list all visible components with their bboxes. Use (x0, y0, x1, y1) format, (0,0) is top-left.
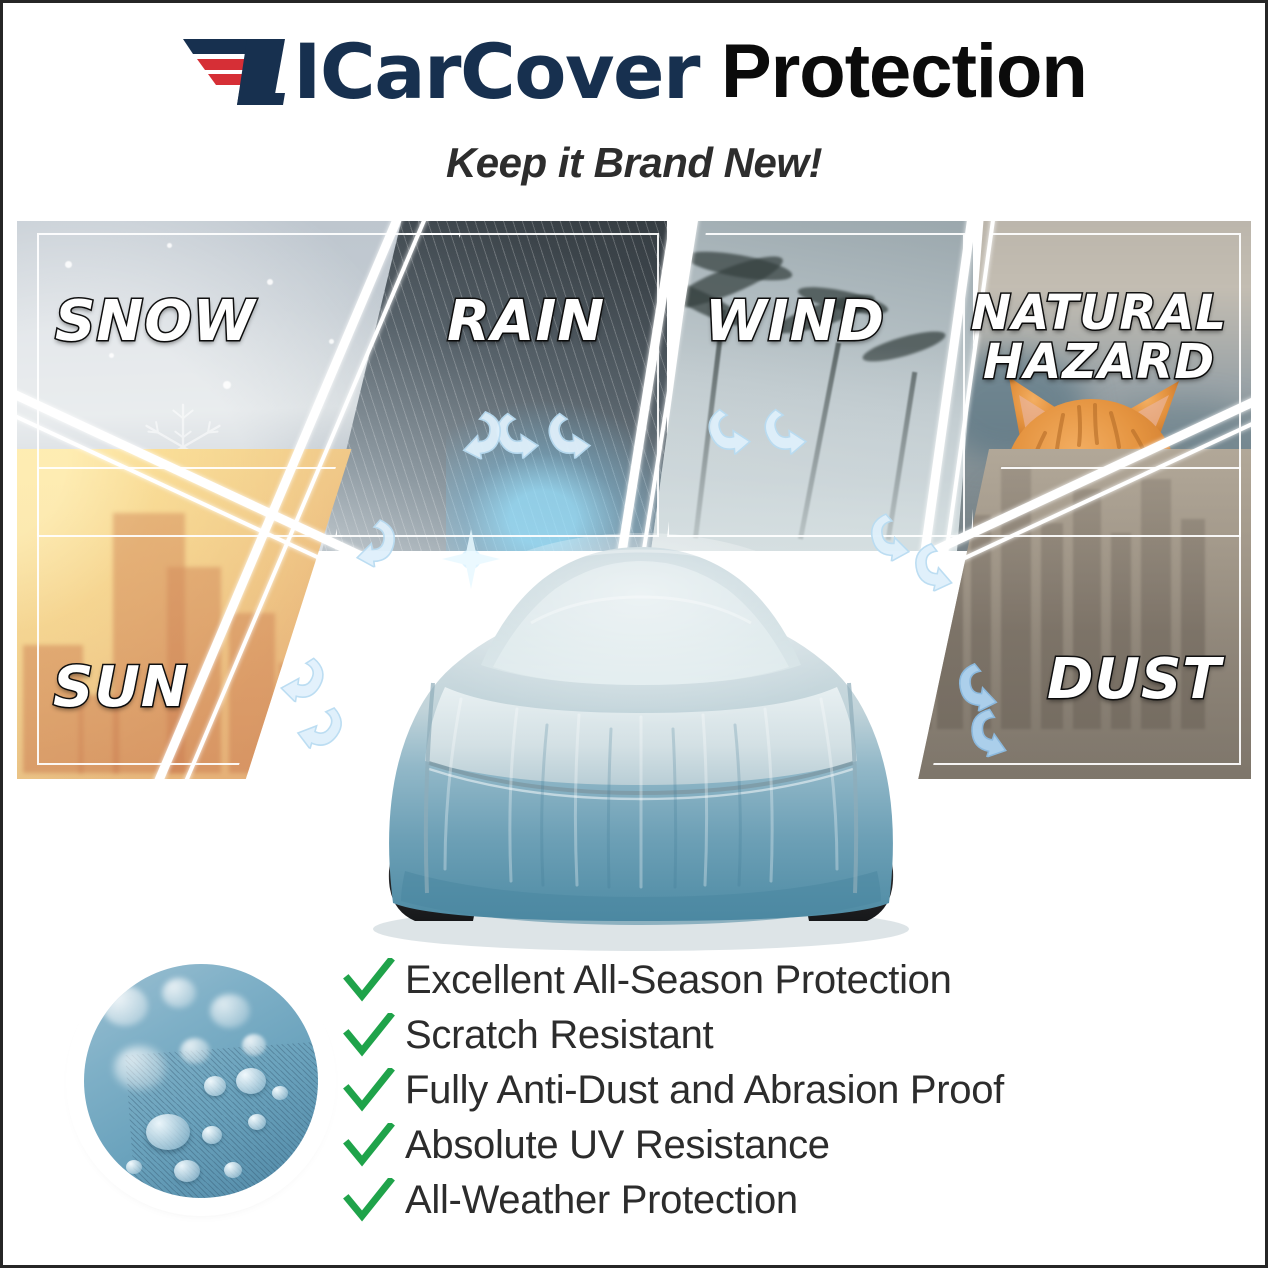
check-icon (343, 1068, 395, 1114)
page-title: Protection (721, 35, 1087, 109)
feature-label: Excellent All-Season Protection (405, 958, 952, 1003)
deflection-arrow-1 (346, 512, 405, 571)
label-natural-hazard: NATURAL HAZARD (959, 289, 1239, 387)
feature-label: Scratch Resistant (405, 1013, 713, 1058)
list-item: Fully Anti-Dust and Abrasion Proof (343, 1063, 1223, 1118)
label-sun: SUN (53, 659, 189, 716)
check-icon (343, 1123, 395, 1169)
tagline: Keep it Brand New! (3, 139, 1265, 187)
swatch-image (84, 964, 318, 1198)
list-item: Scratch Resistant (343, 1008, 1223, 1063)
brand-name: ICarCover (293, 35, 699, 109)
header: ICarCover Protection Keep it Brand New! (3, 3, 1265, 208)
deflection-arrow-5 (541, 405, 597, 461)
covered-car-image (321, 433, 961, 953)
check-icon (343, 1178, 395, 1224)
label-rain: RAIN (447, 293, 605, 350)
deflection-arrow-12 (451, 403, 511, 463)
check-icon (343, 1013, 395, 1059)
label-wind: WIND (705, 293, 885, 350)
product-infographic: ICarCover Protection Keep it Brand New! (0, 0, 1268, 1268)
label-dust: DUST (1047, 651, 1222, 708)
icarcover-logo-icon (181, 35, 299, 109)
list-item: Absolute UV Resistance (343, 1118, 1223, 1173)
list-item: All-Weather Protection (343, 1173, 1223, 1228)
label-snow: SNOW (55, 293, 256, 350)
deflection-arrow-9 (904, 534, 966, 596)
deflection-arrow-7 (757, 401, 813, 457)
title-row: ICarCover Protection (3, 29, 1265, 115)
check-icon (343, 958, 395, 1004)
feature-label: Absolute UV Resistance (405, 1123, 830, 1168)
deflection-arrow-6 (701, 401, 757, 457)
list-item: Excellent All-Season Protection (343, 953, 1223, 1008)
feature-label: All-Weather Protection (405, 1178, 798, 1223)
waterproof-fabric-swatch (75, 955, 327, 1207)
feature-list: Excellent All-Season Protection Scratch … (343, 953, 1223, 1228)
feature-label: Fully Anti-Dust and Abrasion Proof (405, 1068, 1004, 1113)
